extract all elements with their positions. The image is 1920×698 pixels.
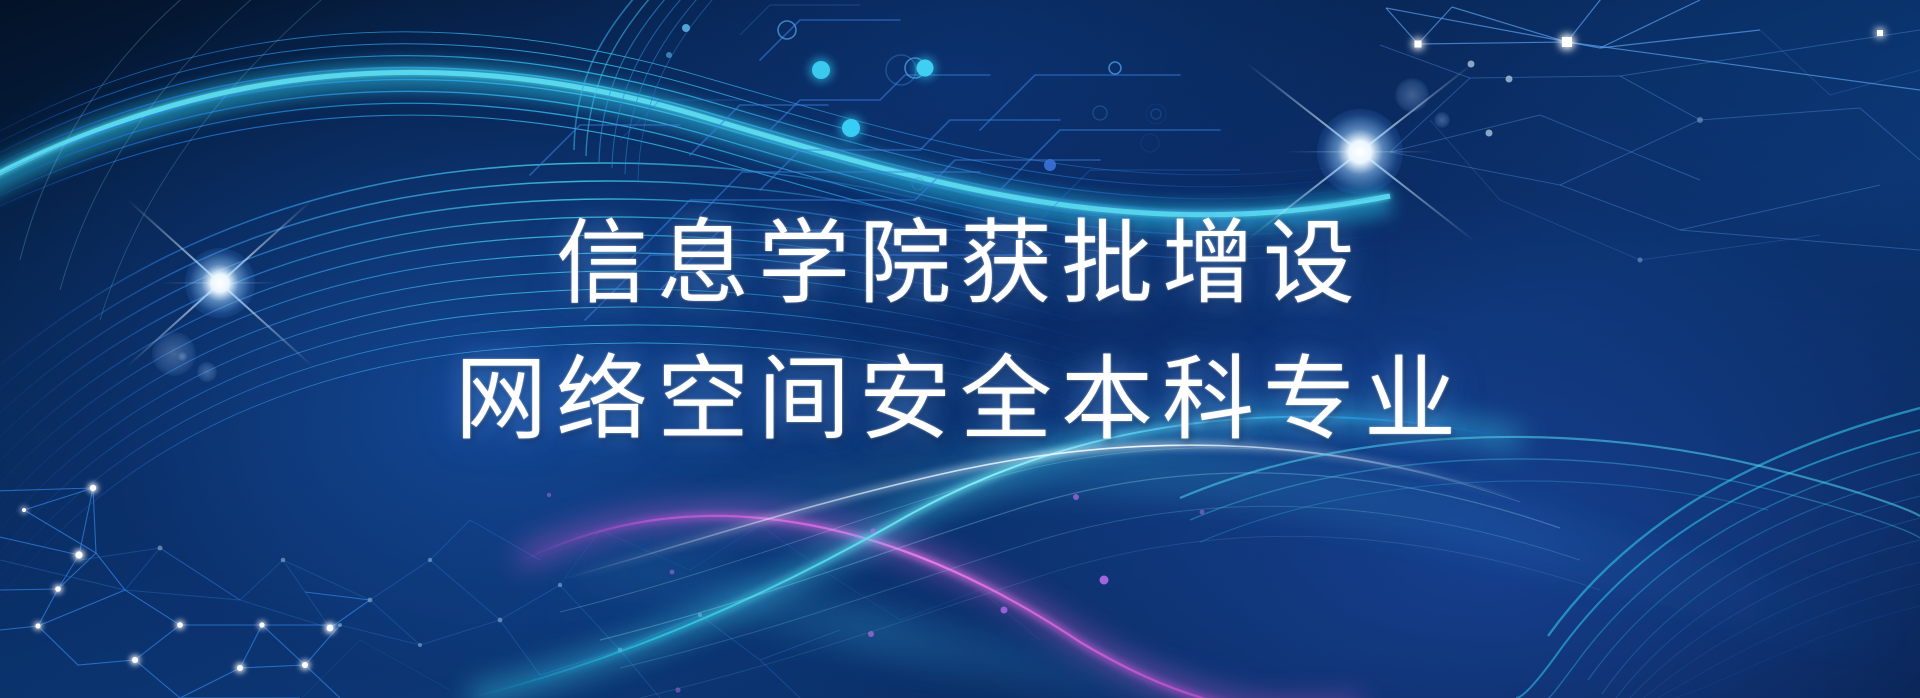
flare-orb [1395,78,1429,112]
title-line-1: 信息学院获批增设 [0,196,1920,332]
flare-ray [1285,151,1435,152]
flare-core [1317,109,1403,195]
title-line-2: 网络空间安全本科专业 [0,332,1920,468]
banner-root: 信息学院获批增设 网络空间安全本科专业 [0,0,1920,698]
banner-title: 信息学院获批增设 网络空间安全本科专业 [0,196,1920,468]
flare-orb [1434,112,1450,128]
